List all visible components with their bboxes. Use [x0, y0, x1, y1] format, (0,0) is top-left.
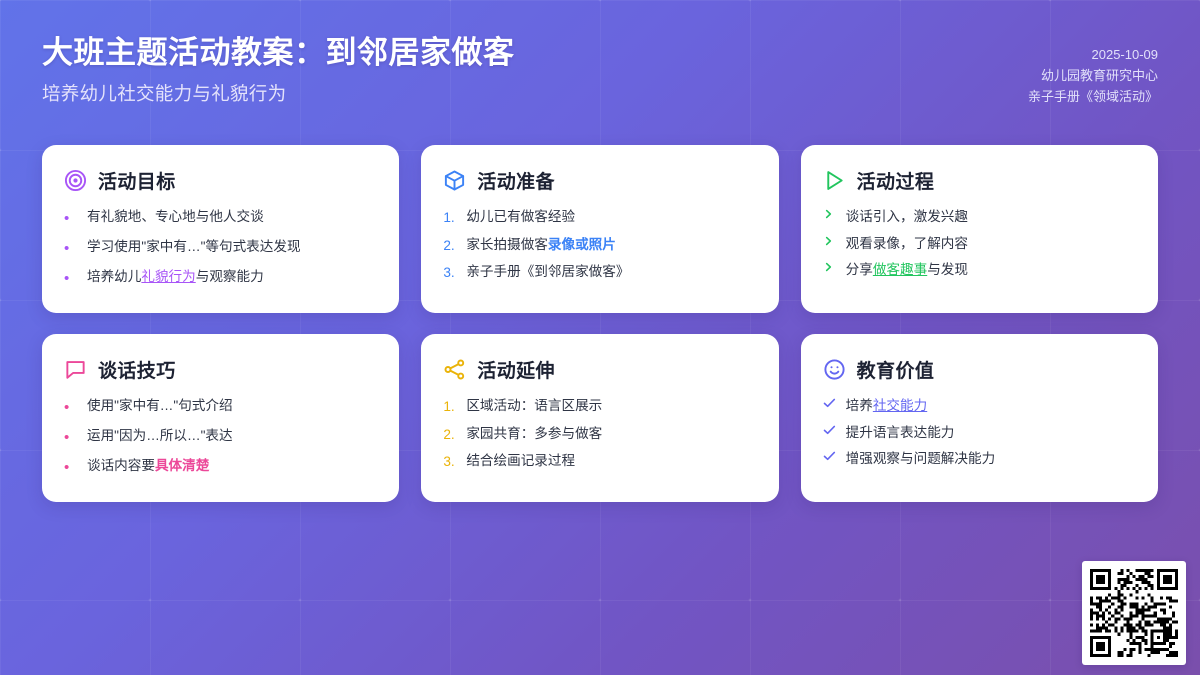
list-item-text: 谈话引入，激发兴趣 [846, 207, 968, 227]
speech-bubble-icon [64, 358, 87, 381]
bullet-dot: • [64, 207, 78, 230]
chevron-right-icon [823, 260, 837, 273]
text-plain: 培养幼儿 [87, 269, 141, 284]
list-item-text: 增强观察与问题解决能力 [846, 449, 996, 469]
header-left: 大班主题活动教案：到邻居家做客 培养幼儿社交能力与礼貌行为 [42, 34, 515, 106]
qr-code-image [1090, 569, 1178, 657]
text-plain: 使用"家中有…"句式介绍 [87, 398, 233, 413]
list-item-text: 家园共育：多参与做客 [466, 424, 602, 444]
card-header: 活动准备 [443, 167, 756, 194]
card-list: 培养社交能力提升语言表达能力增强观察与问题解决能力 [823, 396, 1136, 469]
share-nodes-icon [443, 358, 466, 381]
cards-grid: 活动目标•有礼貌地、专心地与他人交谈•学习使用"家中有…"等句式表达发现•培养幼… [42, 145, 1158, 502]
card-header: 谈话技巧 [64, 356, 377, 383]
card-activity-extension: 活动延伸1.区域活动：语言区展示2.家园共育：多参与做客3.结合绘画记录过程 [421, 334, 778, 502]
card-list: •使用"家中有…"句式介绍•运用"因为…所以…"表达•谈话内容要具体清楚 [64, 396, 377, 478]
check-icon [823, 423, 837, 436]
list-item-text: 亲子手册《到邻居家做客》 [466, 262, 629, 282]
list-number: 1. [443, 207, 457, 228]
text-plain: 谈话内容要 [87, 458, 155, 473]
list-number: 3. [443, 262, 457, 283]
card-list: 1.幼儿已有做客经验2.家长拍摄做客录像或照片3.亲子手册《到邻居家做客》 [443, 207, 756, 283]
list-item-text: 有礼貌地、专心地与他人交谈 [87, 207, 264, 227]
highlighted-term[interactable]: 礼貌行为 [141, 269, 195, 284]
header-organization: 幼儿园教育研究中心 [1028, 65, 1158, 86]
page-subtitle: 培养幼儿社交能力与礼貌行为 [42, 80, 515, 106]
slide-header: 大班主题活动教案：到邻居家做客 培养幼儿社交能力与礼貌行为 2025-10-09… [42, 34, 1158, 107]
chevron-right-icon [823, 234, 837, 247]
text-plain: 亲子手册《到邻居家做客》 [466, 264, 629, 279]
text-plain-tail: 与观察能力 [196, 269, 264, 284]
list-item: 增强观察与问题解决能力 [823, 449, 1136, 469]
list-item-text: 运用"因为…所以…"表达 [87, 426, 233, 446]
text-plain: 学习使用"家中有…"等句式表达发现 [87, 239, 301, 254]
bullet-dot: • [64, 426, 78, 449]
card-activity-preparation: 活动准备1.幼儿已有做客经验2.家长拍摄做客录像或照片3.亲子手册《到邻居家做客… [421, 145, 778, 313]
list-number: 3. [443, 451, 457, 472]
card-list: 谈话引入，激发兴趣观看录像，了解内容分享做客趣事与发现 [823, 207, 1136, 280]
list-item-text: 培养社交能力 [846, 396, 928, 416]
card-title: 活动延伸 [477, 356, 555, 383]
card-list: 1.区域活动：语言区展示2.家园共育：多参与做客3.结合绘画记录过程 [443, 396, 756, 472]
text-plain: 分享 [846, 262, 873, 277]
text-plain: 有礼貌地、专心地与他人交谈 [87, 209, 264, 224]
bullet-dot: • [64, 237, 78, 260]
card-list: •有礼貌地、专心地与他人交谈•学习使用"家中有…"等句式表达发现•培养幼儿礼貌行… [64, 207, 377, 289]
text-plain: 幼儿已有做客经验 [466, 209, 575, 224]
card-conversation-skills: 谈话技巧•使用"家中有…"句式介绍•运用"因为…所以…"表达•谈话内容要具体清楚 [42, 334, 399, 502]
check-icon [823, 449, 837, 462]
list-item-text: 幼儿已有做客经验 [466, 207, 575, 227]
box-icon [443, 169, 466, 192]
text-plain: 家园共育：多参与做客 [466, 426, 602, 441]
list-item-text: 学习使用"家中有…"等句式表达发现 [87, 237, 301, 257]
card-header: 教育价值 [823, 356, 1136, 383]
target-icon [64, 169, 87, 192]
text-plain: 提升语言表达能力 [846, 425, 955, 440]
smiley-face-icon [823, 358, 846, 381]
list-item-text: 家长拍摄做客录像或照片 [466, 235, 616, 255]
list-item: 培养社交能力 [823, 396, 1136, 416]
card-activity-goals: 活动目标•有礼貌地、专心地与他人交谈•学习使用"家中有…"等句式表达发现•培养幼… [42, 145, 399, 313]
chevron-right-icon [823, 207, 837, 220]
highlighted-term[interactable]: 社交能力 [873, 398, 927, 413]
card-header: 活动过程 [823, 167, 1136, 194]
card-title: 活动过程 [857, 167, 935, 194]
list-number: 1. [443, 396, 457, 417]
text-plain: 家长拍摄做客 [466, 237, 548, 252]
text-plain: 谈话引入，激发兴趣 [846, 209, 968, 224]
list-item: •有礼貌地、专心地与他人交谈 [64, 207, 377, 230]
card-header: 活动延伸 [443, 356, 756, 383]
list-item: 1.区域活动：语言区展示 [443, 396, 756, 417]
list-item: 2.家园共育：多参与做客 [443, 424, 756, 445]
bullet-dot: • [64, 396, 78, 419]
header-meta: 2025-10-09 幼儿园教育研究中心 亲子手册《领域活动》 [1028, 34, 1158, 107]
list-item-text: 观看录像，了解内容 [846, 234, 968, 254]
text-plain: 增强观察与问题解决能力 [846, 451, 996, 466]
page-title: 大班主题活动教案：到邻居家做客 [42, 34, 515, 73]
text-plain: 区域活动：语言区展示 [466, 398, 602, 413]
list-item: 1.幼儿已有做客经验 [443, 207, 756, 228]
header-date: 2025-10-09 [1028, 44, 1158, 65]
list-item: •使用"家中有…"句式介绍 [64, 396, 377, 419]
highlighted-term[interactable]: 做客趣事 [873, 262, 927, 277]
text-plain: 运用"因为…所以…"表达 [87, 428, 233, 443]
list-item: 2.家长拍摄做客录像或照片 [443, 235, 756, 256]
list-item: •运用"因为…所以…"表达 [64, 426, 377, 449]
list-number: 2. [443, 235, 457, 256]
highlighted-term[interactable]: 具体清楚 [155, 458, 209, 473]
header-source: 亲子手册《领域活动》 [1028, 86, 1158, 107]
list-item-text: 谈话内容要具体清楚 [87, 456, 209, 476]
list-item: •培养幼儿礼貌行为与观察能力 [64, 267, 377, 290]
bullet-dot: • [64, 267, 78, 290]
slide-root: 大班主题活动教案：到邻居家做客 培养幼儿社交能力与礼貌行为 2025-10-09… [0, 0, 1200, 675]
text-plain: 结合绘画记录过程 [466, 453, 575, 468]
card-educational-value: 教育价值培养社交能力提升语言表达能力增强观察与问题解决能力 [801, 334, 1158, 502]
card-title: 活动准备 [477, 167, 555, 194]
text-plain-tail: 与发现 [927, 262, 968, 277]
bullet-dot: • [64, 456, 78, 479]
list-number: 2. [443, 424, 457, 445]
card-title: 教育价值 [857, 356, 935, 383]
list-item: •谈话内容要具体清楚 [64, 456, 377, 479]
card-title: 活动目标 [98, 167, 176, 194]
list-item: 分享做客趣事与发现 [823, 260, 1136, 280]
list-item-text: 培养幼儿礼貌行为与观察能力 [87, 267, 264, 287]
card-title: 谈话技巧 [98, 356, 176, 383]
play-triangle-icon [823, 169, 846, 192]
list-item: •学习使用"家中有…"等句式表达发现 [64, 237, 377, 260]
text-plain: 观看录像，了解内容 [846, 236, 968, 251]
list-item: 观看录像，了解内容 [823, 234, 1136, 254]
list-item: 3.亲子手册《到邻居家做客》 [443, 262, 756, 283]
check-icon [823, 396, 837, 409]
list-item-text: 使用"家中有…"句式介绍 [87, 396, 233, 416]
highlighted-term[interactable]: 录像或照片 [548, 237, 616, 252]
card-activity-process: 活动过程谈话引入，激发兴趣观看录像，了解内容分享做客趣事与发现 [801, 145, 1158, 313]
list-item-text: 结合绘画记录过程 [466, 451, 575, 471]
card-header: 活动目标 [64, 167, 377, 194]
list-item-text: 区域活动：语言区展示 [466, 396, 602, 416]
text-plain: 培养 [846, 398, 873, 413]
qr-code[interactable] [1082, 561, 1186, 665]
list-item: 3.结合绘画记录过程 [443, 451, 756, 472]
list-item: 谈话引入，激发兴趣 [823, 207, 1136, 227]
list-item-text: 分享做客趣事与发现 [846, 260, 968, 280]
list-item-text: 提升语言表达能力 [846, 423, 955, 443]
list-item: 提升语言表达能力 [823, 423, 1136, 443]
